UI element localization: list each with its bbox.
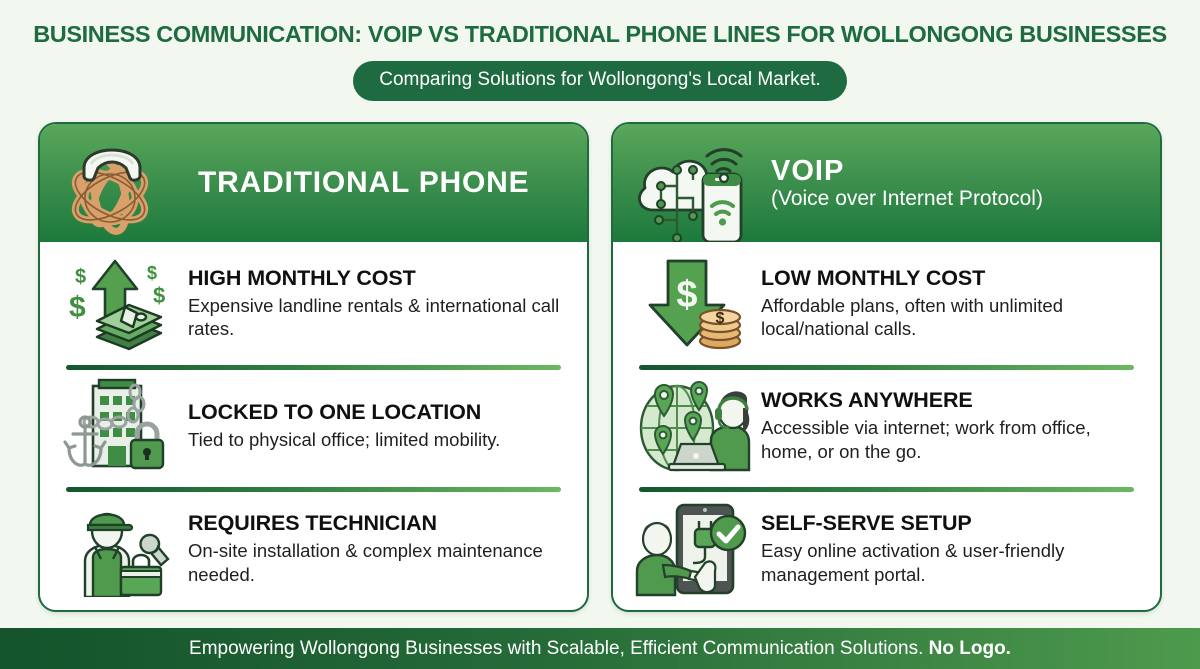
feature-title: LOCKED TO ONE LOCATION bbox=[188, 400, 567, 425]
card-traditional-phone: TRADITIONAL PHONE $ $ $ $ bbox=[38, 122, 589, 612]
card-header-text-voip: VOIP (Voice over Internet Protocol) bbox=[763, 156, 1043, 211]
footer-text-bold: No Logo. bbox=[929, 638, 1011, 659]
feature-row-requires-technician: REQUIRES TECHNICIAN On-site installation… bbox=[56, 487, 571, 610]
feature-desc: Accessible via internet; work from offic… bbox=[761, 416, 1140, 463]
feature-text-low-monthly-cost: LOW MONTHLY COST Affordable plans, often… bbox=[761, 266, 1144, 341]
subtitle-pill: Comparing Solutions for Wollongong's Loc… bbox=[353, 61, 847, 101]
feature-row-locked-to-one-location: LOCKED TO ONE LOCATION Tied to physical … bbox=[56, 365, 571, 488]
feature-title: REQUIRES TECHNICIAN bbox=[188, 511, 567, 536]
technician-toolbox-icon bbox=[56, 496, 182, 602]
feature-title: HIGH MONTHLY COST bbox=[188, 266, 567, 291]
card-header-voip: VOIP (Voice over Internet Protocol) bbox=[613, 124, 1160, 242]
footer-banner: Empowering Wollongong Businesses with Sc… bbox=[0, 628, 1200, 669]
building-anchor-padlock-icon bbox=[56, 373, 182, 479]
money-stack-up-arrow-icon: $ $ $ $ bbox=[56, 250, 182, 356]
down-arrow-dollar-coins-icon: $ $ bbox=[629, 250, 755, 356]
feature-title: WORKS ANYWHERE bbox=[761, 388, 1140, 413]
footer-text-regular: Empowering Wollongong Businesses with Sc… bbox=[189, 638, 929, 659]
tablet-plug-checkmark-icon bbox=[629, 496, 755, 602]
svg-text:$: $ bbox=[676, 274, 697, 316]
feature-title: SELF-SERVE SETUP bbox=[761, 511, 1140, 536]
svg-text:$: $ bbox=[716, 310, 725, 327]
feature-text-locked-to-one-location: LOCKED TO ONE LOCATION Tied to physical … bbox=[188, 400, 571, 451]
svg-text:$: $ bbox=[147, 263, 157, 283]
feature-desc: On-site installation & complex maintenan… bbox=[188, 539, 567, 586]
feature-row-self-serve-setup: SELF-SERVE SETUP Easy online activation … bbox=[629, 487, 1144, 610]
card-title-voip: VOIP bbox=[771, 156, 1043, 186]
svg-text:$: $ bbox=[75, 266, 86, 288]
subtitle-container: Comparing Solutions for Wollongong's Loc… bbox=[0, 61, 1200, 101]
feature-desc: Affordable plans, often with unlimited l… bbox=[761, 294, 1140, 341]
feature-text-self-serve-setup: SELF-SERVE SETUP Easy online activation … bbox=[761, 511, 1144, 586]
feature-desc: Expensive landline rentals & internation… bbox=[188, 294, 567, 341]
tangled-corded-phone-icon bbox=[58, 124, 190, 242]
feature-desc: Easy online activation & user-friendly m… bbox=[761, 539, 1140, 586]
comparison-cards: TRADITIONAL PHONE $ $ $ $ bbox=[38, 122, 1162, 612]
feature-desc: Tied to physical office; limited mobilit… bbox=[188, 428, 567, 452]
feature-list-traditional: $ $ $ $ bbox=[40, 242, 587, 610]
feature-list-voip: $ $ LOW MONTHLY COST Affordable plans, o bbox=[613, 242, 1160, 610]
card-header-text-traditional: TRADITIONAL PHONE bbox=[190, 167, 529, 199]
feature-text-high-monthly-cost: HIGH MONTHLY COST Expensive landline ren… bbox=[188, 266, 571, 341]
page-title: BUSINESS COMMUNICATION: VOIP VS TRADITIO… bbox=[0, 0, 1200, 48]
card-title-traditional: TRADITIONAL PHONE bbox=[198, 167, 529, 199]
feature-text-requires-technician: REQUIRES TECHNICIAN On-site installation… bbox=[188, 511, 571, 586]
svg-text:$: $ bbox=[69, 291, 86, 324]
feature-title: LOW MONTHLY COST bbox=[761, 266, 1140, 291]
card-header-traditional: TRADITIONAL PHONE bbox=[40, 124, 587, 242]
feature-text-works-anywhere: WORKS ANYWHERE Accessible via internet; … bbox=[761, 388, 1144, 463]
footer-text: Empowering Wollongong Businesses with Sc… bbox=[189, 638, 1011, 660]
card-voip: VOIP (Voice over Internet Protocol) $ bbox=[611, 122, 1162, 612]
feature-row-works-anywhere: WORKS ANYWHERE Accessible via internet; … bbox=[629, 365, 1144, 488]
cloud-circuit-smartphone-wifi-icon bbox=[631, 124, 763, 242]
globe-pins-remote-worker-icon bbox=[629, 373, 755, 479]
card-subtitle-voip: (Voice over Internet Protocol) bbox=[771, 187, 1043, 210]
svg-text:$: $ bbox=[153, 283, 165, 308]
feature-row-high-monthly-cost: $ $ $ $ bbox=[56, 242, 571, 365]
feature-row-low-monthly-cost: $ $ LOW MONTHLY COST Affordable plans, o bbox=[629, 242, 1144, 365]
